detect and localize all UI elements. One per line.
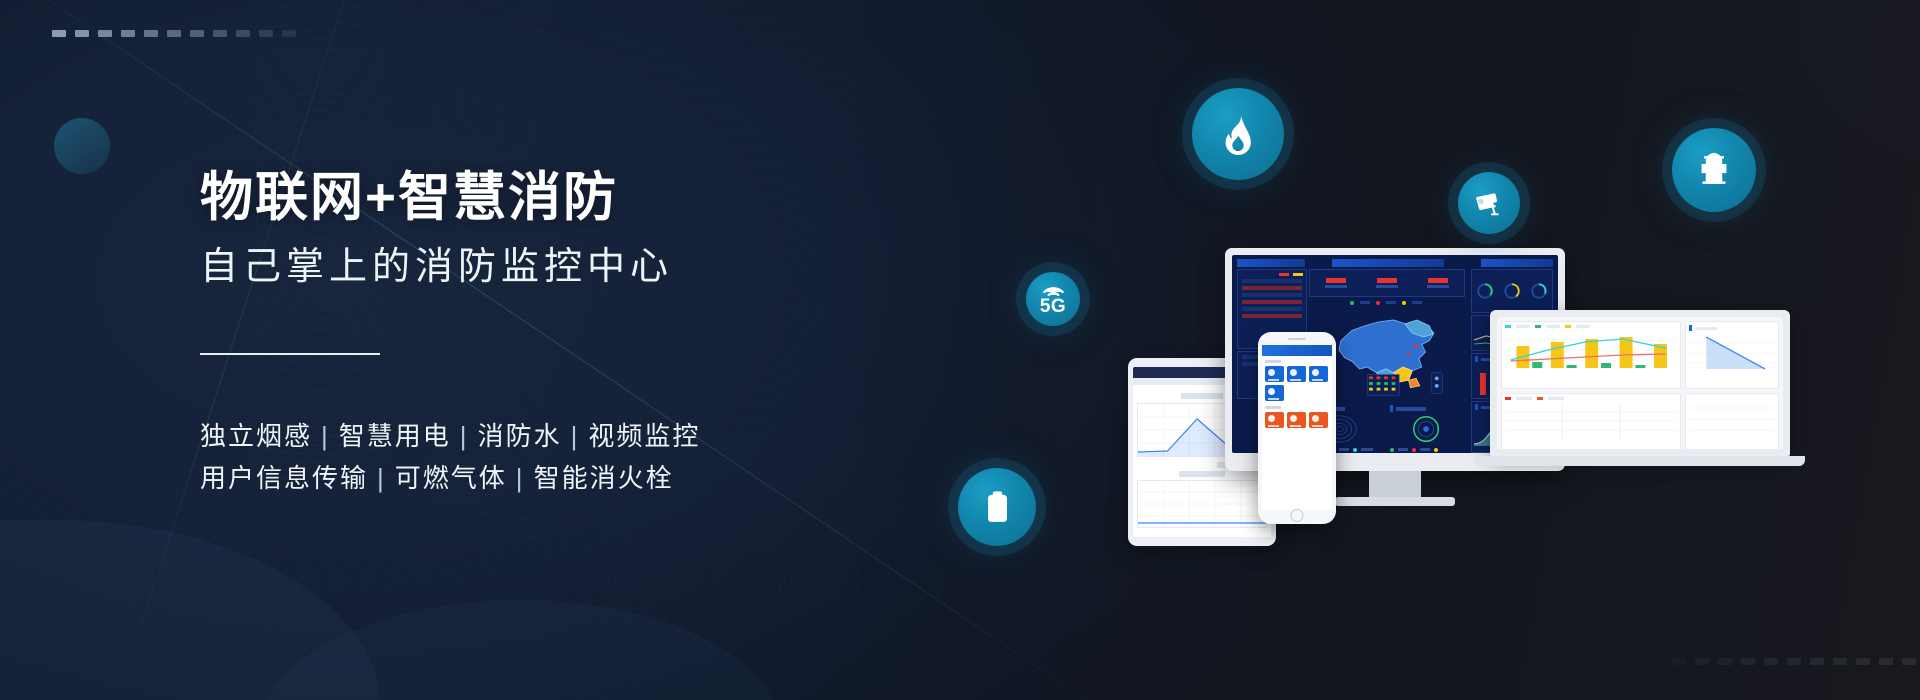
dash-mark: [1695, 658, 1709, 665]
laptop-lid: [1490, 310, 1790, 456]
dash-mark: [167, 30, 181, 37]
laptop-base: [1475, 456, 1805, 466]
feature-item: 用户信息传输: [200, 463, 368, 493]
page-subtitle: 自己掌上的消防监控中心: [200, 245, 700, 291]
dash-mark: [1833, 658, 1847, 665]
dash-mark: [98, 30, 112, 37]
5g-label: 5G: [1040, 297, 1066, 316]
feature-separator: |: [451, 421, 478, 451]
flame-icon-badge[interactable]: [1192, 88, 1284, 180]
tile-item[interactable]: [1265, 385, 1284, 401]
laptop-device[interactable]: [1490, 310, 1790, 466]
accent-circle: [54, 118, 110, 174]
hydrant-icon: [1693, 149, 1735, 191]
mesh-texture-corner: [1680, 560, 1920, 700]
hero-copy: 物联网+智慧消防 自己掌上的消防监控中心 独立烟感|智慧用电|消防水|视频监控 …: [200, 168, 700, 499]
battery-icon-badge[interactable]: [958, 468, 1036, 546]
hydrant-icon-badge[interactable]: [1672, 128, 1756, 212]
monitor-stand-neck: [1369, 471, 1421, 497]
dash-mark: [259, 30, 273, 37]
wifi-arc-icon: [1041, 283, 1066, 296]
dash-mark: [282, 30, 296, 37]
page-title: 物联网+智慧消防: [200, 168, 700, 227]
feature-item: 智能消火栓: [534, 463, 674, 493]
phone-tile-grid-orange: [1265, 412, 1329, 428]
feature-separator: |: [312, 421, 339, 451]
flame-icon: [1216, 112, 1260, 156]
phone-home-button[interactable]: [1291, 509, 1304, 522]
camera-icon: [1474, 188, 1504, 218]
feature-row-1: 独立烟感|智慧用电|消防水|视频监控: [200, 415, 700, 457]
dash-mark: [52, 30, 66, 37]
tile-item[interactable]: [1287, 366, 1306, 382]
feature-item: 消防水: [478, 421, 562, 451]
tile-item[interactable]: [1265, 412, 1284, 428]
dash-mark: [1902, 658, 1916, 665]
laptop-decline-chart: [1685, 321, 1779, 389]
feature-row-2: 用户信息传输|可燃气体|智能消火栓: [200, 457, 700, 499]
feature-item: 可燃气体: [395, 463, 507, 493]
title-divider: [200, 353, 380, 355]
feature-separator: |: [562, 421, 589, 451]
dash-mark: [1741, 658, 1755, 665]
feature-list: 独立烟感|智慧用电|消防水|视频监控 用户信息传输|可燃气体|智能消火栓: [200, 415, 700, 499]
laptop-screen: [1497, 317, 1783, 449]
phone-screen: [1262, 345, 1332, 510]
monitor-panel-kpi: [1309, 269, 1465, 297]
dash-mark: [1787, 658, 1801, 665]
dash-mark: [1672, 658, 1686, 665]
dash-mark: [236, 30, 250, 37]
phone-device[interactable]: [1258, 332, 1336, 524]
phone-header: [1262, 345, 1332, 356]
device-cluster: [1120, 280, 1800, 580]
dash-mark: [190, 30, 204, 37]
battery-icon: [979, 489, 1016, 526]
monitor-stand-base: [1335, 497, 1455, 506]
blob-bottom-left: [0, 520, 380, 700]
phone-tile-grid-blue: [1265, 366, 1329, 401]
dash-row-bottom-right: [1672, 658, 1916, 665]
laptop-bar-chart: [1501, 321, 1681, 389]
dash-row-top-left: [52, 30, 296, 37]
phone-speaker: [1288, 338, 1306, 340]
tile-item[interactable]: [1309, 366, 1328, 382]
5g-icon-badge[interactable]: 5G: [1026, 272, 1080, 326]
tile-item[interactable]: [1287, 412, 1306, 428]
dash-mark: [213, 30, 227, 37]
dash-mark: [144, 30, 158, 37]
blob-top-right: [1790, 0, 1920, 170]
tile-item[interactable]: [1265, 366, 1284, 382]
dash-mark: [75, 30, 89, 37]
dash-mark: [1764, 658, 1778, 665]
dash-mark: [1856, 658, 1870, 665]
feature-item: 视频监控: [588, 421, 700, 451]
monitor-panel-gauges: [1471, 269, 1553, 313]
dash-mark: [1810, 658, 1824, 665]
monitor-panel-gauge: [1390, 405, 1464, 451]
hero-banner: 物联网+智慧消防 自己掌上的消防监控中心 独立烟感|智慧用电|消防水|视频监控 …: [0, 0, 1920, 700]
dash-mark: [1879, 658, 1893, 665]
feature-separator: |: [368, 463, 395, 493]
feature-separator: |: [507, 463, 534, 493]
blob-bottom-center: [260, 600, 780, 700]
laptop-axis-panel: [1685, 393, 1779, 449]
feature-item: 独立烟感: [200, 421, 312, 451]
laptop-table-panel: [1501, 393, 1681, 449]
dash-mark: [1718, 658, 1732, 665]
dash-mark: [121, 30, 135, 37]
tile-item[interactable]: [1309, 412, 1328, 428]
feature-item: 智慧用电: [339, 421, 451, 451]
camera-icon-badge[interactable]: [1458, 172, 1520, 234]
